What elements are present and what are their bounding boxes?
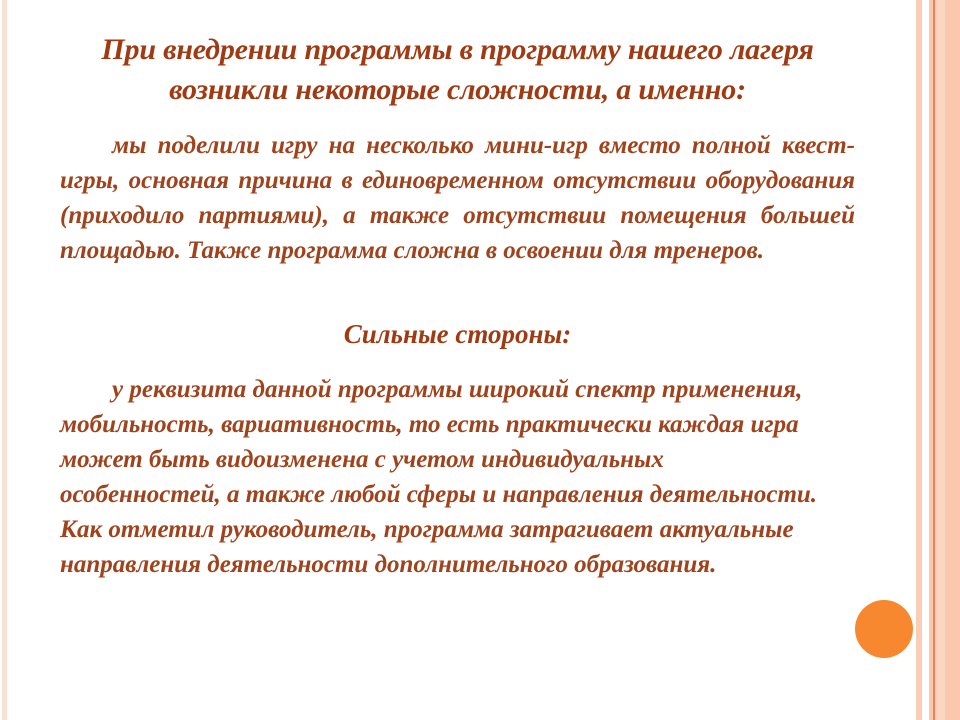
right-light-stripe [936, 0, 945, 720]
section-subheading-strengths: Сильные стороны: [60, 268, 855, 352]
right-stripe-band [929, 0, 960, 720]
right-thin-stripe [916, 0, 922, 720]
slide-title: При внедрении программы в программу наше… [60, 0, 855, 110]
presentation-slide: При внедрении программы в программу наше… [0, 0, 960, 720]
slide-content: При внедрении программы в программу наше… [60, 0, 855, 720]
left-decorative-stripe [2, 0, 7, 720]
right-accent-line [933, 0, 935, 720]
body-paragraph-difficulties: мы поделили игру на несколько мини-игр в… [60, 128, 855, 268]
body-paragraph-strengths: у реквизита данной программы широкий спе… [60, 372, 820, 582]
orange-circle-accent [855, 600, 913, 658]
